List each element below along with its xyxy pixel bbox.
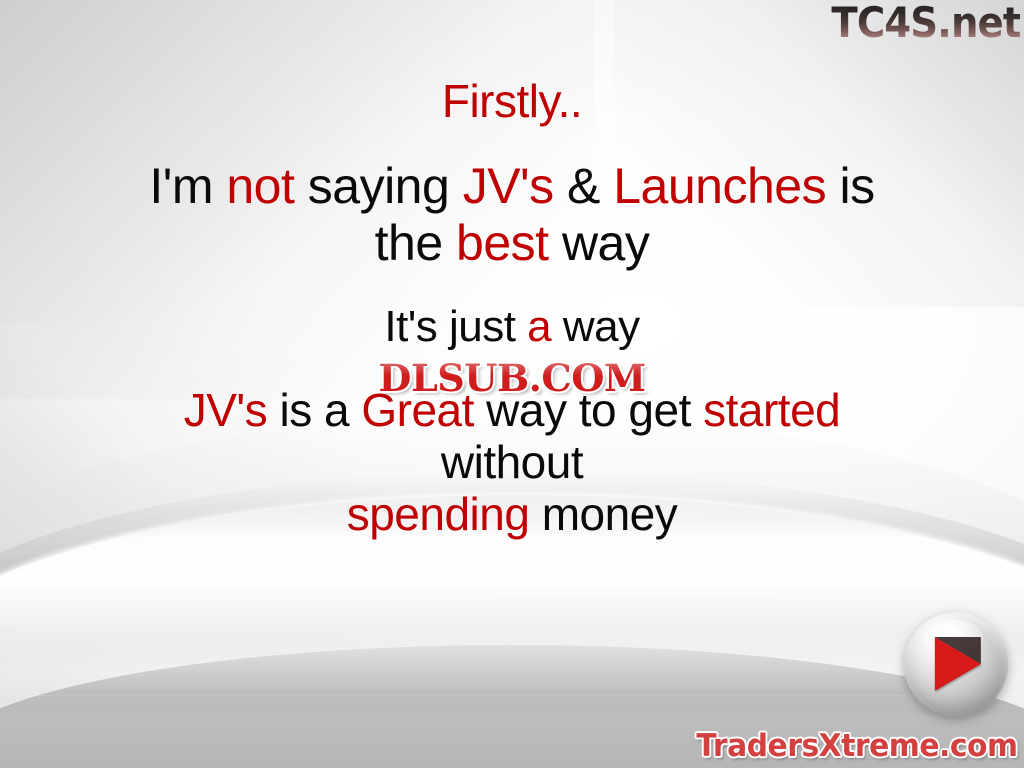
text-run: a	[527, 302, 551, 351]
tradersxtreme-logo: TradersXtreme.com	[697, 728, 1018, 764]
text-run: Launches	[613, 158, 826, 214]
text-run: spending	[347, 488, 530, 540]
text-run: not	[226, 158, 294, 214]
text-run: started	[703, 384, 840, 436]
text-run: Great	[361, 384, 474, 436]
text-run: I'm	[149, 158, 226, 214]
text-run: way to get	[474, 384, 703, 436]
play-button-inner	[904, 612, 1008, 716]
text-run: money	[529, 488, 677, 540]
play-triangle-icon	[935, 637, 981, 691]
text-run: is a	[267, 384, 361, 436]
text-run: way	[549, 215, 650, 271]
text-run: best	[456, 215, 549, 271]
text-run: saying	[294, 158, 462, 214]
play-button[interactable]	[904, 612, 1008, 716]
presentation-slide: TC4S.net Firstly.. I'm not saying JV's &…	[0, 0, 1024, 768]
text-run: way	[551, 302, 639, 351]
text-run: It's just	[384, 302, 527, 351]
slide-paragraph-2: It's just a way	[86, 302, 938, 351]
text-run: without	[441, 436, 583, 488]
text-run: &	[554, 158, 614, 214]
slide-paragraph-1: I'm not saying JV's & Launches is the be…	[86, 158, 938, 272]
slide-content: Firstly.. I'm not saying JV's & Launches…	[0, 78, 1024, 541]
slide-heading: Firstly..	[0, 78, 1024, 124]
slide-paragraph-3: JV's is a Great way to get started witho…	[60, 385, 964, 541]
tc4s-logo: TC4S.net	[831, 2, 1020, 44]
text-run: JV's	[184, 384, 267, 436]
text-run: JV's	[463, 158, 554, 214]
